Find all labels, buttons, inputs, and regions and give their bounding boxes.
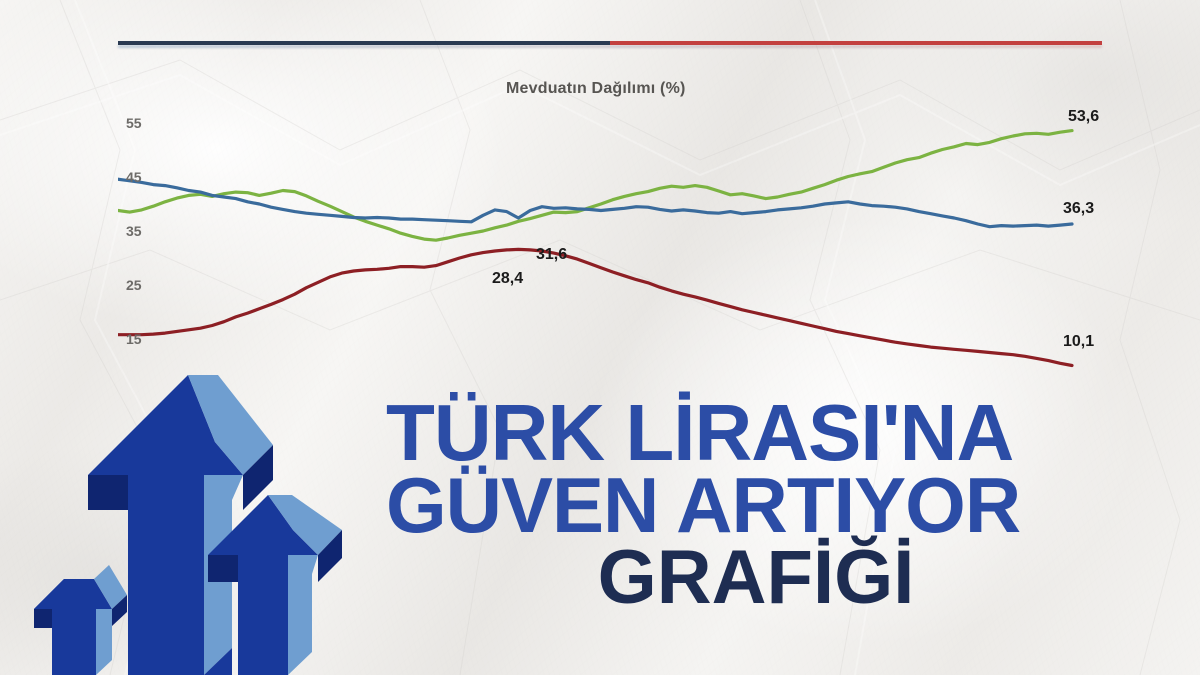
top-divider-rule	[118, 41, 1102, 45]
arrow-small-left	[34, 565, 127, 675]
infographic-canvas: Mevduatın Dağılımı (%) 55 45 35 25 15 53…	[0, 0, 1200, 675]
three-up-arrows-icon	[0, 360, 400, 675]
data-label-red-mid: 28,4	[492, 270, 523, 288]
data-label-red-peak: 31,6	[536, 246, 567, 264]
y-tick-45: 45	[126, 169, 142, 185]
data-label-red-end: 10,1	[1063, 333, 1094, 351]
chart-series-line	[118, 131, 1072, 241]
data-label-blue-end: 36,3	[1063, 200, 1094, 218]
line-chart	[118, 100, 1102, 390]
headline-line-1: TÜRK LİRASI'NA	[386, 396, 1126, 470]
y-tick-35: 35	[126, 223, 142, 239]
chart-series-line	[118, 249, 1072, 365]
top-rule-shadow	[118, 45, 1102, 48]
chart-title: Mevduatın Dağılımı (%)	[506, 80, 686, 98]
y-tick-25: 25	[126, 277, 142, 293]
y-tick-55: 55	[126, 115, 142, 131]
headline-block: TÜRK LİRASI'NA GÜVEN ARTIYOR GRAFİĞİ	[386, 396, 1126, 613]
headline-line-2: GÜVEN ARTIYOR	[386, 470, 1126, 542]
chart-plot-svg	[118, 100, 1102, 390]
top-rule-navy-segment	[118, 41, 610, 45]
headline-line-3: GRAFİĞİ	[386, 543, 1126, 613]
data-label-green-end: 53,6	[1068, 108, 1099, 126]
y-tick-15: 15	[126, 331, 142, 347]
top-rule-red-segment	[610, 41, 1102, 45]
chart-series-line	[118, 179, 1072, 227]
